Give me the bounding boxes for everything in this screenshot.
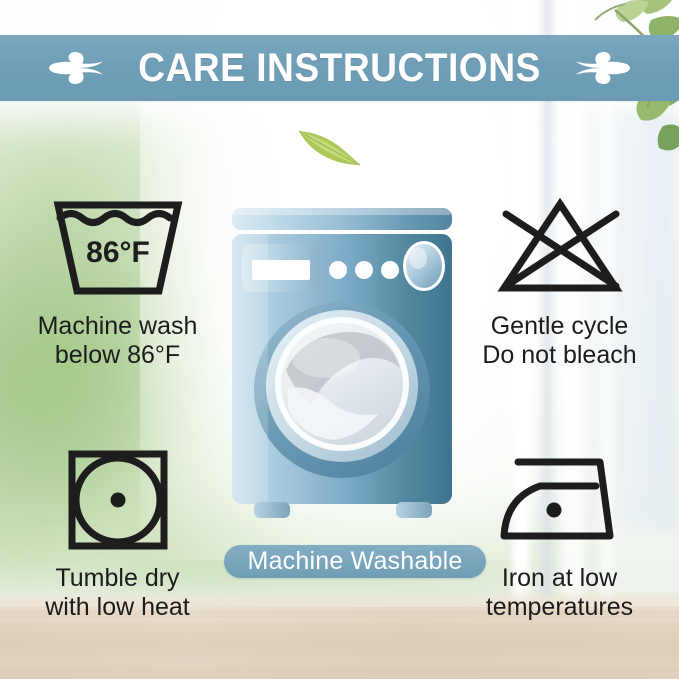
care-item-tumble-dry: Tumble dry with low heat — [10, 444, 225, 621]
care-item-do-not-bleach: Gentle cycle Do not bleach — [452, 192, 667, 369]
iron-heat-level-dot — [546, 503, 561, 518]
machine-foot — [254, 502, 290, 518]
care-item-iron-low: Iron at low temperatures — [452, 444, 667, 621]
green-leaf-icon — [296, 124, 364, 168]
care-label: Machine wash below 86°F — [38, 312, 198, 369]
dial-knob-highlight — [409, 247, 427, 269]
door-glass-highlight — [292, 338, 360, 378]
care-label: Gentle cycle Do not bleach — [482, 312, 636, 369]
care-instructions-graphic: CARE INSTRUCTIONS 86°F Machine wa — [0, 0, 679, 679]
fleur-de-lis-icon — [45, 48, 109, 88]
machine-body-highlight — [232, 234, 268, 504]
wash-tub-icon: 86°F — [49, 196, 187, 300]
machine-washable-badge: Machine Washable — [224, 545, 486, 578]
control-indicator-dot — [355, 261, 373, 279]
fleur-de-lis-icon — [570, 48, 634, 88]
care-label: Tumble dry with low heat — [45, 564, 190, 621]
care-icon-wrapper — [496, 444, 624, 556]
dry-heat-level-dot — [110, 493, 125, 508]
care-label: Iron at low temperatures — [486, 564, 633, 621]
tumble-dry-low-icon — [66, 448, 170, 552]
washing-machine-illustration — [228, 208, 456, 528]
iron-low-heat-icon — [496, 450, 624, 550]
badge-label: Machine Washable — [248, 549, 463, 574]
control-indicator-dot — [381, 261, 399, 279]
triangle-crossed-out-icon — [494, 196, 626, 300]
header-banner: CARE INSTRUCTIONS — [0, 35, 679, 101]
care-icon-wrapper — [66, 444, 170, 556]
control-indicator-dot — [329, 261, 347, 279]
care-icon-wrapper — [494, 192, 626, 304]
machine-lid-highlight — [232, 208, 452, 215]
care-item-machine-wash: 86°F Machine wash below 86°F — [10, 192, 225, 369]
care-icon-wrapper: 86°F — [49, 192, 187, 304]
machine-foot — [396, 502, 432, 518]
page-title: CARE INSTRUCTIONS — [138, 48, 541, 88]
wash-temperature-value: 86°F — [86, 236, 150, 269]
